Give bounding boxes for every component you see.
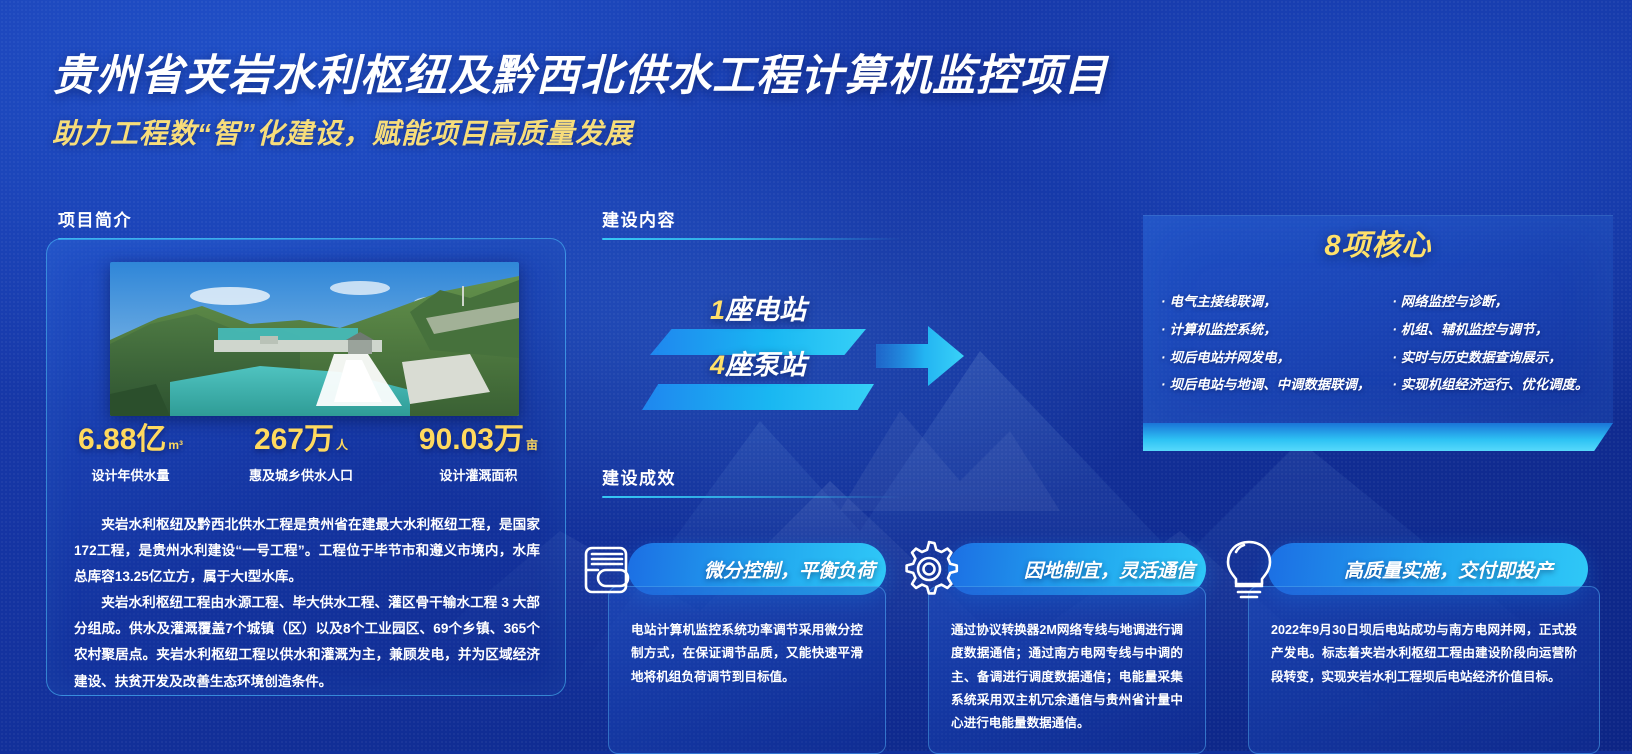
core-items-right-column: ·网络监控与诊断， ·机组、辅机监控与调节， ·实时与历史数据查询展示， ·实现…	[1386, 288, 1595, 399]
platform-pump-station: 4座泵站	[642, 343, 874, 410]
effect-card-title: 因地制宜，灵活通信	[1024, 556, 1195, 583]
section-heading-build-content: 建设内容	[602, 206, 902, 240]
effect-card-text: 2022年9月30日坝后电站成功与南方电网并网，正式投产发电。标志着夹岩水利枢纽…	[1271, 619, 1577, 689]
core-item-label: 坝后电站与地调、中调数据联调，	[1169, 377, 1370, 392]
gear-icon	[894, 534, 964, 604]
stat-label: 设计年供水量	[78, 465, 183, 484]
intro-stats: 6.88亿m³ 设计年供水量 267万人 惠及城乡供水人口 90.03万亩 设计…	[78, 425, 538, 484]
dam-photo	[110, 262, 519, 416]
core-item: ·实现机组经济运行、优化调度。	[1392, 371, 1595, 399]
core-item: ·坝后电站与地调、中调数据联调，	[1161, 371, 1370, 399]
bullet-icon: ·	[1161, 294, 1165, 309]
core-item: ·网络监控与诊断，	[1392, 288, 1595, 316]
arrow-right-icon	[872, 320, 968, 392]
page-subtitle: 助力工程数“智”化建设，赋能项目高质量发展	[52, 112, 1352, 152]
platform-text: 座电站	[725, 295, 806, 325]
stat-item: 6.88亿m³ 设计年供水量	[78, 425, 183, 484]
stat-value: 6.88亿	[78, 423, 166, 456]
core-item-label: 计算机监控系统，	[1169, 322, 1276, 337]
stat-label: 设计灌溉面积	[419, 465, 538, 484]
stat-unit: m³	[168, 438, 183, 452]
lightbulb-icon	[1214, 534, 1284, 604]
core-item: ·机组、辅机监控与调节，	[1392, 316, 1595, 344]
core-item-label: 电气主接线联调，	[1169, 294, 1276, 309]
effect-card-title: 微分控制，平衡负荷	[704, 556, 875, 583]
bullet-icon: ·	[1161, 350, 1165, 365]
stat-label: 惠及城乡供水人口	[249, 465, 353, 484]
core-panel-shelf	[1143, 423, 1613, 451]
bullet-icon: ·	[1392, 350, 1396, 365]
intro-paragraphs: 夹岩水利枢纽及黔西北供水工程是贵州省在建最大水利枢纽工程，是国家172工程，是贵…	[74, 512, 540, 695]
core-item: ·坝后电站并网发电，	[1161, 344, 1370, 372]
stat-value: 90.03万	[419, 423, 524, 456]
platform-slab	[642, 384, 874, 410]
section-heading-intro-label: 项目简介	[58, 206, 558, 231]
core-item-label: 实时与历史数据查询展示，	[1401, 350, 1562, 365]
stat-unit: 亩	[526, 438, 538, 452]
core-item-label: 网络监控与诊断，	[1401, 294, 1508, 309]
core-item: ·计算机监控系统，	[1161, 316, 1370, 344]
wallet-icon	[574, 534, 644, 604]
core-item-label: 机组、辅机监控与调节，	[1401, 322, 1548, 337]
stat-value: 267万	[254, 423, 334, 456]
core-item-label: 坝后电站并网发电，	[1169, 350, 1290, 365]
stat-item: 90.03万亩 设计灌溉面积	[419, 425, 538, 484]
platform-number: 1	[710, 295, 725, 325]
bullet-icon: ·	[1392, 377, 1396, 392]
core-items-lists: ·电气主接线联调， ·计算机监控系统， ·坝后电站并网发电， ·坝后电站与地调、…	[1143, 288, 1613, 399]
intro-paragraph: 夹岩水利枢纽及黔西北供水工程是贵州省在建最大水利枢纽工程，是国家172工程，是贵…	[74, 512, 540, 590]
core-item-label: 实现机组经济运行、优化调度。	[1401, 377, 1588, 392]
bullet-icon: ·	[1161, 377, 1165, 392]
platform-number: 4	[710, 350, 725, 380]
effect-card-body: 电站计算机监控系统功率调节采用微分控制方式，在保证调节品质，又能快速平滑地将机组…	[608, 586, 886, 754]
effect-card-body: 通过协议转换器2M网络专线与地调进行调度数据通信；通过南方电网专线与中调的主、备…	[928, 586, 1206, 754]
bullet-icon: ·	[1161, 322, 1165, 337]
effect-card-body: 2022年9月30日坝后电站成功与南方电网并网，正式投产发电。标志着夹岩水利枢纽…	[1248, 586, 1600, 754]
effect-card-title: 高质量实施，交付即投产	[1344, 556, 1553, 583]
section-heading-intro: 项目简介	[58, 206, 558, 240]
core-items-left-column: ·电气主接线联调， ·计算机监控系统， ·坝后电站并网发电， ·坝后电站与地调、…	[1161, 288, 1370, 399]
section-heading-effect: 建设成效	[602, 464, 902, 498]
effect-card-text: 电站计算机监控系统功率调节采用微分控制方式，在保证调节品质，又能快速平滑地将机组…	[631, 619, 863, 689]
platform-text: 座泵站	[725, 350, 806, 380]
stat-unit: 人	[336, 438, 348, 452]
section-heading-build-content-label: 建设内容	[602, 206, 902, 231]
bullet-icon: ·	[1392, 294, 1396, 309]
core-item: ·实时与历史数据查询展示，	[1392, 344, 1595, 372]
core-panel-title: 8项核心	[1143, 222, 1613, 264]
core-item: ·电气主接线联调，	[1161, 288, 1370, 316]
intro-paragraph: 夹岩水利枢纽工程由水源工程、毕大供水工程、灌区骨干输水工程 3 大部分组成。供水…	[74, 590, 540, 694]
section-heading-rule	[602, 238, 902, 240]
page-header: 贵州省夹岩水利枢纽及黔西北供水工程计算机监控项目 助力工程数“智”化建设，赋能项…	[52, 52, 1352, 152]
page-title: 贵州省夹岩水利枢纽及黔西北供水工程计算机监控项目	[52, 52, 1352, 100]
stat-item: 267万人 惠及城乡供水人口	[249, 425, 353, 484]
effect-card-text: 通过协议转换器2M网络专线与地调进行调度数据通信；通过南方电网专线与中调的主、备…	[951, 619, 1183, 735]
section-heading-rule	[602, 496, 902, 498]
bullet-icon: ·	[1392, 322, 1396, 337]
section-heading-effect-label: 建设成效	[602, 464, 902, 489]
